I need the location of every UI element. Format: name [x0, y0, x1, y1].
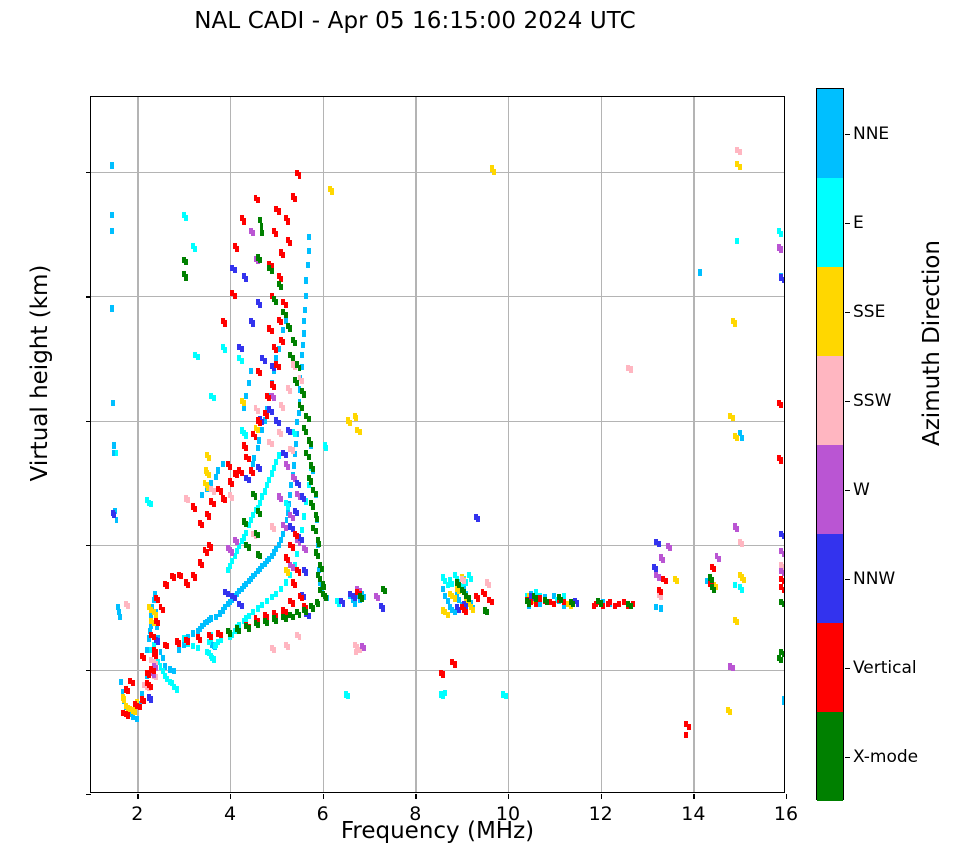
echo-point [362, 645, 366, 651]
echo-point [138, 704, 142, 710]
echo-point [485, 609, 489, 615]
echo-point [274, 231, 278, 237]
echo-point [212, 488, 216, 494]
echo-point [288, 325, 292, 331]
echo-point [657, 574, 661, 580]
echo-point [263, 358, 267, 364]
echo-point [219, 632, 223, 638]
echo-point [240, 346, 244, 352]
echo-point [230, 549, 234, 555]
echo-point [304, 293, 308, 299]
echo-point [712, 566, 716, 572]
echo-point [527, 600, 531, 606]
echo-point [346, 693, 350, 699]
echo-point [664, 578, 668, 584]
echo-point [731, 665, 735, 671]
echo-point [293, 582, 297, 588]
colorbar-label-sse: SSE [853, 302, 885, 322]
echo-point [119, 679, 123, 685]
colorbar-label-nne: NNE [853, 124, 889, 144]
echo-point [742, 577, 746, 583]
echo-point [471, 607, 475, 613]
echo-point [110, 162, 114, 168]
echo-point [247, 380, 251, 386]
echo-point [272, 465, 276, 471]
echo-point [249, 368, 253, 374]
echo-point [738, 164, 742, 170]
echo-point [240, 358, 244, 364]
echo-point [293, 340, 297, 346]
colorbar-tick [845, 579, 850, 580]
echo-point [476, 516, 480, 522]
echo-point [226, 591, 230, 597]
echo-point [212, 501, 216, 507]
echo-point [559, 597, 563, 603]
echo-point [186, 497, 190, 503]
echo-point [256, 445, 260, 451]
echo-point [152, 634, 156, 640]
colorbar-label-w: W [853, 480, 870, 500]
colorbar-title: Azimuth Direction [919, 193, 945, 493]
echo-point [443, 690, 447, 696]
echo-point [710, 577, 714, 583]
echo-point [205, 549, 209, 555]
echo-point [617, 601, 621, 607]
echo-point [348, 420, 352, 426]
echo-point [274, 459, 278, 465]
echo-point [450, 581, 454, 587]
echo-point [302, 330, 306, 336]
echo-point [782, 277, 784, 283]
echo-point [284, 302, 288, 308]
echo-point [193, 574, 197, 580]
echo-point [244, 530, 248, 536]
echo-point [165, 643, 169, 649]
echo-point [717, 556, 721, 562]
echo-point [311, 466, 315, 472]
echo-point [576, 600, 580, 606]
echo-point [233, 293, 237, 299]
echo-point [209, 634, 213, 640]
colorbar-segment-x-mode[interactable] [817, 712, 843, 801]
echo-point [300, 405, 304, 411]
echo-point [534, 595, 538, 601]
echo-point [469, 576, 473, 582]
echo-point [251, 320, 255, 326]
echo-point [149, 684, 153, 690]
echo-point [247, 613, 251, 619]
echo-point [254, 493, 258, 499]
echo-point [307, 234, 311, 240]
echo-point [300, 352, 304, 358]
echo-point [184, 215, 188, 221]
echo-point [684, 732, 688, 738]
echo-point [233, 267, 237, 273]
echo-point [383, 588, 387, 594]
echo-point [258, 500, 262, 506]
echo-point [353, 601, 357, 607]
echo-point [212, 395, 216, 401]
y-gridline [91, 421, 784, 422]
echo-point [112, 442, 116, 448]
echo-point [298, 612, 302, 618]
echo-point [209, 544, 213, 550]
echo-point [237, 628, 241, 634]
echo-point [534, 601, 538, 607]
echo-point [154, 649, 158, 655]
echo-point [279, 284, 283, 290]
echo-point [258, 420, 262, 426]
y-tick [86, 172, 91, 173]
echo-point [207, 472, 211, 478]
echo-point [126, 688, 130, 694]
colorbar-label-ssw: SSW [853, 391, 891, 411]
echo-point [304, 609, 308, 615]
echo-point [782, 551, 784, 557]
echo-point [490, 599, 494, 605]
echo-point [142, 698, 146, 704]
echo-point [504, 693, 508, 699]
echo-point [172, 574, 176, 580]
echo-point [298, 569, 302, 575]
echo-point [740, 587, 744, 593]
echo-point [492, 169, 496, 175]
echo-point [191, 630, 195, 636]
echo-point [133, 709, 137, 715]
echo-point [728, 709, 732, 715]
echo-point [191, 643, 195, 649]
echo-point [315, 516, 319, 522]
echo-point [324, 595, 328, 601]
echo-point [462, 578, 466, 584]
echo-point [156, 597, 160, 603]
echo-point [300, 527, 304, 533]
x-gridline [230, 97, 231, 792]
colorbar-segment-nnw[interactable] [817, 534, 843, 623]
echo-point [291, 614, 295, 620]
echo-point [779, 657, 783, 663]
echo-point [179, 573, 183, 579]
ionogram-figure: NAL CADI - Apr 05 16:15:00 2024 UTC 2468… [0, 0, 958, 857]
plot-title: NAL CADI - Apr 05 16:15:00 2024 UTC [0, 8, 830, 34]
echo-point [279, 319, 283, 325]
echo-point [304, 569, 308, 575]
echo-point [284, 615, 288, 621]
echo-point [304, 277, 308, 283]
echo-point [198, 637, 202, 643]
echo-point [267, 395, 271, 401]
echo-point [712, 587, 716, 593]
echo-point [661, 557, 665, 563]
echo-point [223, 347, 227, 353]
echo-point [258, 511, 262, 517]
echo-point [288, 429, 292, 435]
echo-point [782, 533, 784, 539]
echo-point [330, 188, 334, 194]
echo-point [307, 248, 311, 254]
echo-point [284, 312, 288, 318]
echo-point [142, 655, 146, 661]
echo-point [629, 603, 633, 609]
colorbar-tick [845, 757, 850, 758]
colorbar-segment-vertical[interactable] [817, 623, 843, 712]
echo-point [311, 503, 315, 509]
echo-point [272, 526, 276, 532]
echo-point [270, 470, 274, 476]
echo-point [300, 378, 304, 384]
echo-point [256, 427, 260, 433]
echo-point [360, 595, 364, 601]
echo-point [281, 252, 285, 258]
echo-point [251, 470, 255, 476]
colorbar-tick [845, 223, 850, 224]
colorbar-segment-e[interactable] [817, 178, 843, 267]
echo-point [274, 347, 278, 353]
echo-point [675, 578, 679, 584]
colorbar-segment-ssw[interactable] [817, 356, 843, 445]
echo-point [300, 595, 304, 601]
echo-point [284, 525, 288, 531]
echo-point [256, 605, 260, 611]
echo-point [175, 686, 179, 692]
echo-point [288, 240, 292, 246]
colorbar-segment-sse[interactable] [817, 267, 843, 356]
echo-point [295, 510, 299, 516]
x-tick [693, 794, 694, 799]
echo-point [446, 612, 450, 618]
echo-point [270, 268, 274, 274]
echo-point [298, 365, 302, 371]
echo-point [244, 445, 248, 451]
colorbar-label-x-mode: X-mode [853, 747, 918, 767]
x-gridline [601, 97, 602, 792]
echo-point [483, 591, 487, 597]
echo-point [782, 601, 784, 607]
echo-point [668, 545, 672, 551]
y-tick [86, 794, 91, 795]
echo-point [149, 696, 153, 702]
echo-point [320, 566, 324, 572]
echo-point [196, 354, 200, 360]
echo-point [274, 618, 278, 624]
echo-point [112, 512, 116, 518]
echo-point [295, 551, 299, 557]
echo-point [118, 614, 122, 620]
echo-point [260, 427, 264, 433]
echo-point [196, 645, 200, 651]
echo-point [538, 595, 542, 601]
echo-point [291, 515, 295, 521]
echo-point [298, 482, 302, 488]
echo-point [272, 395, 276, 401]
echo-point [200, 562, 204, 568]
colorbar-label-vertical: Vertical [853, 658, 917, 678]
echo-point [301, 342, 305, 348]
echo-point [316, 601, 320, 607]
echo-point [242, 400, 246, 406]
echo-point [622, 599, 626, 605]
y-tick [86, 545, 91, 546]
x-tick [415, 794, 416, 799]
echo-point [177, 647, 181, 653]
echo-point [126, 712, 130, 718]
echo-point [281, 531, 285, 537]
echo-point [223, 497, 227, 503]
echo-point [779, 231, 783, 237]
echo-point [172, 668, 176, 674]
echo-point [258, 466, 262, 472]
echo-point [247, 456, 251, 462]
colorbar[interactable]: NNEESSESSWWNNWVerticalX-mode [816, 88, 844, 800]
echo-point [265, 620, 269, 626]
echo-point [464, 609, 468, 615]
echo-point [244, 393, 248, 399]
echo-point [279, 496, 283, 502]
echo-point [161, 607, 165, 613]
echo-point [223, 320, 227, 326]
echo-point [354, 649, 358, 655]
echo-point [291, 447, 295, 453]
plot-area [91, 97, 784, 792]
echo-point [228, 630, 232, 636]
y-tick [86, 421, 91, 422]
y-gridline [91, 172, 784, 173]
echo-point [735, 238, 739, 244]
echo-point [733, 582, 737, 588]
echo-point [219, 488, 223, 494]
echo-point [244, 521, 248, 527]
echo-point [654, 566, 658, 572]
echo-point [230, 481, 234, 487]
echo-point [240, 603, 244, 609]
echo-point [156, 638, 160, 644]
echo-point [135, 716, 139, 722]
echo-point [277, 364, 281, 370]
echo-point [779, 402, 783, 408]
echo-point [258, 553, 262, 559]
echo-point [244, 432, 248, 438]
echo-point [740, 541, 744, 547]
echo-point [177, 640, 181, 646]
echo-point [293, 196, 297, 202]
echo-point [307, 454, 311, 460]
echo-point [304, 547, 308, 553]
plot-axes: 24681012141602004006008001000 [90, 96, 785, 793]
echo-point [274, 299, 278, 305]
echo-point [149, 501, 153, 507]
echo-point [270, 409, 274, 415]
echo-point [353, 595, 357, 601]
echo-point [184, 274, 188, 280]
echo-point [659, 605, 663, 611]
echo-point [288, 388, 292, 394]
echo-point [687, 724, 691, 730]
echo-point [487, 582, 491, 588]
echo-point [281, 327, 285, 333]
echo-point [240, 470, 244, 476]
echo-point [145, 647, 149, 653]
y-gridline [91, 296, 784, 297]
echo-point [200, 492, 204, 498]
echo-point [286, 569, 290, 575]
echo-point [291, 564, 295, 570]
echo-point [256, 408, 260, 414]
y-tick [86, 670, 91, 671]
echo-point [306, 262, 310, 268]
echo-point [782, 587, 784, 593]
echo-point [302, 513, 306, 519]
echo-point [247, 625, 251, 631]
echo-point [110, 228, 114, 234]
echo-point [235, 246, 239, 252]
echo-point [738, 149, 742, 155]
echo-point [256, 532, 260, 538]
echo-point [311, 605, 315, 611]
echo-point [242, 218, 246, 224]
echo-point [735, 435, 739, 441]
colorbar-segment-nne[interactable] [817, 89, 843, 178]
echo-point [184, 259, 188, 265]
echo-point [277, 208, 281, 214]
x-gridline [137, 97, 138, 792]
echo-point [779, 457, 783, 463]
echo-point [735, 526, 739, 532]
echo-point [317, 541, 321, 547]
x-gridline [415, 97, 416, 792]
echo-point [214, 474, 218, 480]
echo-point [161, 655, 165, 661]
echo-point [256, 622, 260, 628]
echo-point [279, 586, 283, 592]
echo-point [295, 419, 299, 425]
x-tick [786, 794, 787, 799]
echo-point [552, 601, 556, 607]
colorbar-tick [845, 134, 850, 135]
echo-point [258, 257, 262, 263]
echo-point [467, 595, 471, 601]
echo-point [260, 230, 264, 236]
echo-point [314, 528, 318, 534]
x-tick [601, 794, 602, 799]
echo-point [304, 429, 308, 435]
echo-point [298, 172, 302, 178]
x-tick [323, 794, 324, 799]
echo-point [265, 482, 269, 488]
echo-point [270, 328, 274, 334]
echo-point [274, 591, 278, 597]
echo-point [244, 276, 248, 282]
echo-point [291, 355, 295, 361]
echo-point [354, 415, 358, 421]
echo-point [298, 634, 302, 640]
echo-point [193, 506, 197, 512]
echo-point [654, 604, 658, 610]
echo-point [126, 603, 130, 609]
echo-point [272, 384, 276, 390]
echo-point [260, 602, 264, 608]
echo-point [731, 415, 735, 421]
echo-point [233, 595, 237, 601]
echo-point [441, 586, 445, 592]
echo-point [193, 246, 197, 252]
echo-point [110, 212, 114, 218]
echo-point [277, 420, 281, 426]
echo-point [200, 522, 204, 528]
echo-point [247, 477, 251, 483]
echo-point [212, 656, 216, 662]
echo-point [168, 666, 172, 672]
colorbar-segment-w[interactable] [817, 445, 843, 534]
